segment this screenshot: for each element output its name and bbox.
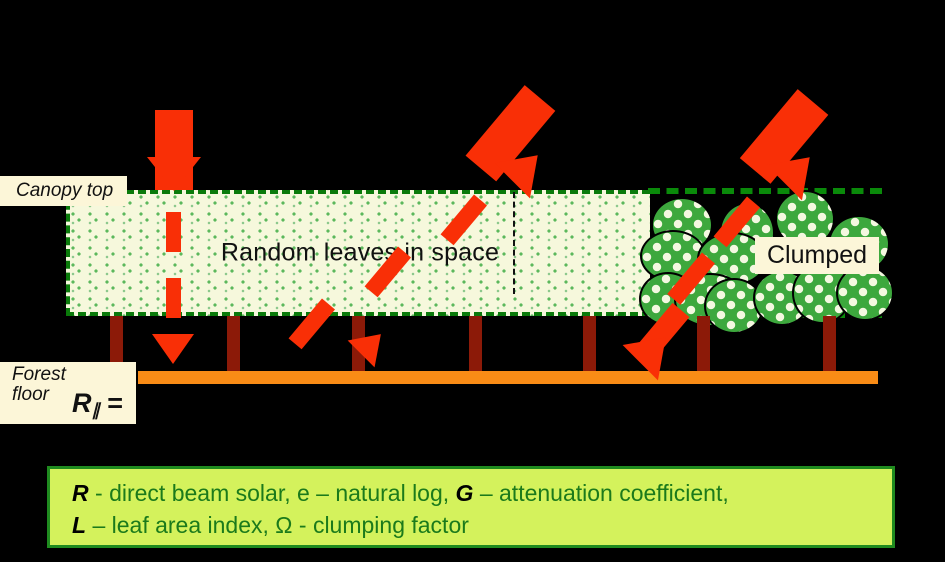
legend-omega-symbol: Ω xyxy=(275,512,292,538)
random-canopy-box: Random leaves in space xyxy=(66,190,650,316)
vertical-beam-dash-1 xyxy=(166,212,181,252)
tree-trunk xyxy=(697,316,710,376)
legend-symbol: L xyxy=(72,512,86,538)
equation-base: R xyxy=(72,388,92,418)
equation-operator: = xyxy=(107,388,123,418)
legend-text: – attenuation coefficient, xyxy=(473,480,728,506)
random-canopy-label: Random leaves in space xyxy=(221,239,499,268)
vertical-beam-dash-2 xyxy=(166,278,181,318)
legend-line-1: R - direct beam solar, e – natural log, … xyxy=(72,478,892,510)
equation-subscript: ∥ xyxy=(92,401,100,420)
legend-symbol: G xyxy=(456,480,474,506)
vertical-beam-arrowhead-top xyxy=(147,157,201,191)
legend-symbol: R xyxy=(72,480,89,506)
clumped-callout: Clumped xyxy=(755,237,879,274)
tree-trunk xyxy=(583,316,596,376)
tree-trunk xyxy=(823,316,836,376)
tree-trunk xyxy=(469,316,482,376)
radiation-equation: R∥ = xyxy=(72,388,123,421)
vertical-reference-dashed-line xyxy=(513,192,515,294)
legend-text: - direct beam solar, e – natural log, xyxy=(89,480,456,506)
diagram-canvas: Random leaves in space Canopy top Clumpe… xyxy=(0,0,945,562)
legend-text: – leaf area index, xyxy=(86,512,275,538)
canopy-top-callout: Canopy top xyxy=(0,176,127,206)
legend-text: - clumping factor xyxy=(293,512,469,538)
forest-floor-label-line1: Forest xyxy=(12,365,136,385)
legend-line-2: L – leaf area index, Ω - clumping factor xyxy=(72,510,892,542)
tree-trunk xyxy=(227,316,240,376)
forest-floor-bar xyxy=(138,371,878,384)
vertical-beam-arrowhead-bottom xyxy=(152,334,194,364)
canopy-top-boundary-line xyxy=(648,188,882,194)
legend-box: R - direct beam solar, e – natural log, … xyxy=(47,466,895,548)
